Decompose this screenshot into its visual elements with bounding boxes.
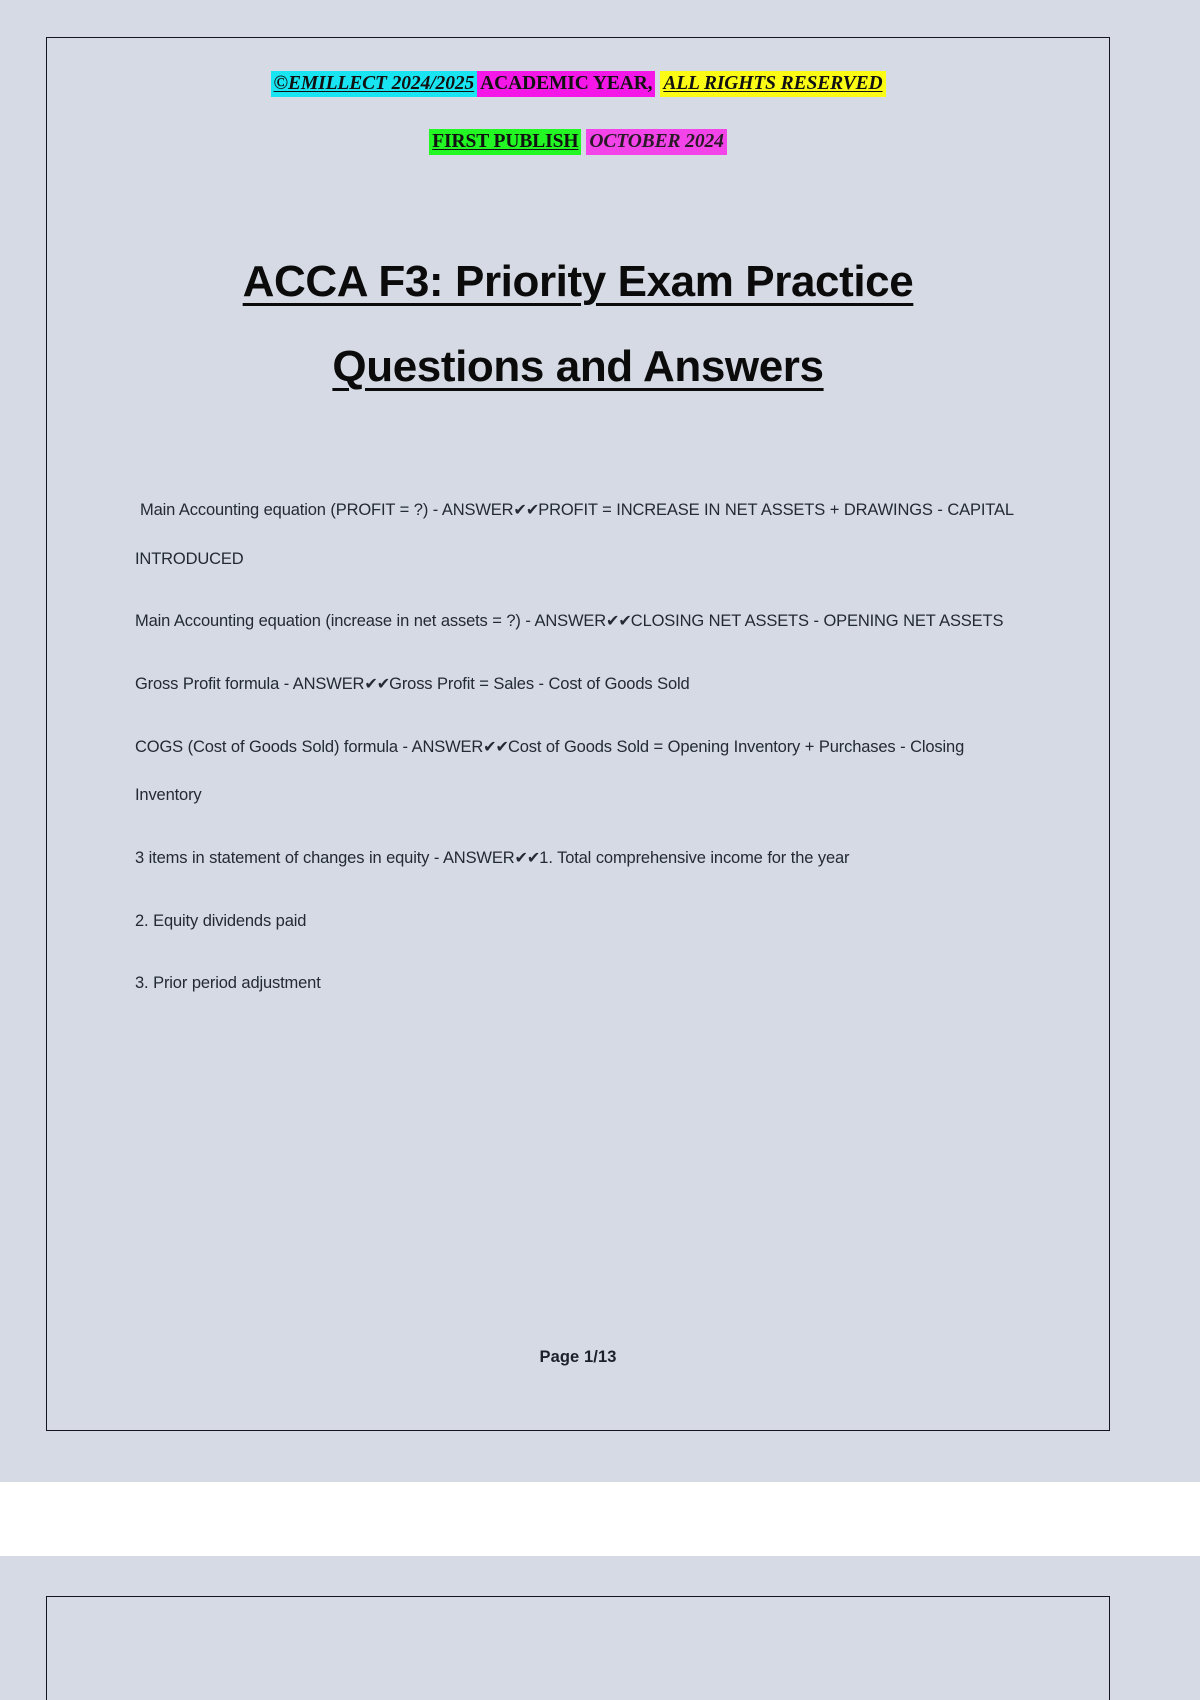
qa-paragraph: COGS (Cost of Goods Sold) formula - ANSW… [135, 723, 1015, 820]
qa-question: Gross Profit formula - ANSWER [135, 675, 364, 693]
qa-question: Main Accounting equation (PROFIT = ?) - … [140, 501, 513, 519]
qa-question: COGS (Cost of Goods Sold) formula - ANSW… [135, 738, 483, 756]
rights-reserved-highlight: ALL RIGHTS RESERVED [660, 71, 885, 97]
document-page-1: ©EMILLECT 2024/2025ACADEMIC YEAR, ALL RI… [46, 37, 1110, 1431]
answer-tick-icon: ✔✔ [364, 674, 389, 693]
answer-tick-icon: ✔✔ [606, 611, 631, 630]
qa-paragraph: Main Accounting equation (increase in ne… [135, 597, 1015, 646]
qa-answer: 1. Total comprehensive income for the ye… [539, 849, 849, 867]
title-line-1: ACCA F3: Priority Exam Practice [47, 260, 1109, 304]
qa-question: Main Accounting equation (increase in ne… [135, 612, 606, 630]
copyright-line-2: FIRST PUBLISH OCTOBER 2024 [47, 132, 1109, 152]
qa-content: Main Accounting equation (PROFIT = ?) - … [135, 486, 1015, 1022]
document-viewer: ©EMILLECT 2024/2025ACADEMIC YEAR, ALL RI… [0, 0, 1200, 1700]
page-title: ACCA F3: Priority Exam Practice Question… [47, 260, 1109, 389]
title-line-1-text: ACCA F3: Priority Exam Practice [243, 257, 914, 306]
publish-date-highlight: OCTOBER 2024 [586, 129, 726, 155]
copyright-header: ©EMILLECT 2024/2025ACADEMIC YEAR, ALL RI… [47, 74, 1109, 151]
answer-tick-icon: ✔✔ [513, 500, 538, 519]
qa-paragraph: 3. Prior period adjustment [135, 959, 1015, 1008]
copyright-line-1: ©EMILLECT 2024/2025ACADEMIC YEAR, ALL RI… [47, 74, 1109, 94]
answer-tick-icon: ✔✔ [514, 848, 539, 867]
qa-answer: 2. Equity dividends paid [135, 912, 306, 930]
qa-paragraph: Main Accounting equation (PROFIT = ?) - … [135, 486, 1015, 583]
first-publish-highlight: FIRST PUBLISH [429, 129, 581, 155]
next-page-sheet [46, 1596, 1110, 1700]
qa-paragraph: 2. Equity dividends paid [135, 897, 1015, 946]
qa-paragraph: Gross Profit formula - ANSWER✔✔Gross Pro… [135, 660, 1015, 709]
academic-year-highlight: ACADEMIC YEAR, [477, 71, 655, 97]
page-number-footer: Page 1/13 [47, 1348, 1109, 1367]
copyright-owner-highlight: ©EMILLECT 2024/2025 [271, 71, 478, 97]
title-line-2-text: Questions and Answers [332, 342, 823, 391]
page-gap-strip [0, 1482, 1200, 1556]
qa-answer: CLOSING NET ASSETS - OPENING NET ASSETS [631, 612, 1004, 630]
title-line-2: Questions and Answers [47, 345, 1109, 389]
answer-tick-icon: ✔✔ [483, 737, 508, 756]
qa-answer: Gross Profit = Sales - Cost of Goods Sol… [389, 675, 689, 693]
qa-answer: 3. Prior period adjustment [135, 974, 321, 992]
qa-question: 3 items in statement of changes in equit… [135, 849, 514, 867]
qa-paragraph: 3 items in statement of changes in equit… [135, 834, 1015, 883]
